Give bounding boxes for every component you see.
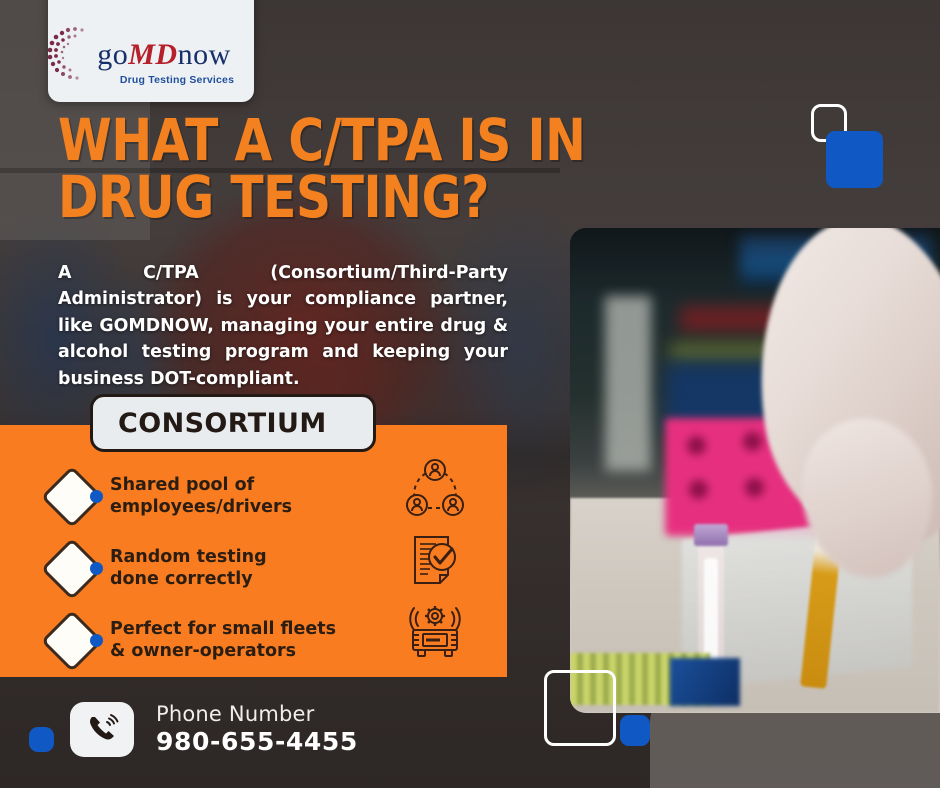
lab-photo-inner	[570, 228, 940, 713]
logo-text-go: go	[97, 40, 128, 70]
contact-block[interactable]: Phone Number 980-655-4455	[70, 701, 358, 757]
feature-line-2: & owner-operators	[110, 641, 296, 661]
contact-text: Phone Number 980-655-4455	[156, 701, 358, 757]
diamond-bullet-icon	[44, 469, 104, 523]
feature-text: Perfect for small fleets & owner-operato…	[110, 618, 336, 663]
logo-wordmark: go MD now	[97, 40, 231, 70]
list-item: Perfect for small fleets & owner-operato…	[44, 604, 384, 676]
feature-line-1: Shared pool of	[110, 475, 254, 495]
page-title: WHAT A C/TPA IS IN DRUG TESTING?	[58, 112, 453, 226]
poster-canvas: go MD now Drug Testing Services WHAT A C…	[0, 0, 940, 788]
lab-photo	[570, 228, 940, 713]
diamond-bullet-icon	[44, 541, 104, 595]
feature-line-2: employees/drivers	[110, 497, 292, 517]
decor-square-blue-bottom	[620, 715, 650, 746]
brand-logo[interactable]: go MD now Drug Testing Services	[48, 0, 254, 102]
phone-ringing-icon	[70, 702, 134, 757]
logo-text-md: MD	[128, 40, 177, 70]
feature-list: Shared pool of employees/drivers Random …	[44, 460, 384, 676]
consortium-badge-label: CONSORTIUM	[118, 408, 327, 439]
feature-text: Shared pool of employees/drivers	[110, 474, 292, 519]
feature-line-1: Perfect for small fleets	[110, 619, 336, 639]
swirl-dots-icon	[41, 24, 99, 82]
decor-square-blue-top-right	[826, 131, 883, 188]
logo-tagline: Drug Testing Services	[120, 74, 234, 86]
body-paragraph: A C/TPA (Consortium/Third-Party Administ…	[58, 260, 508, 392]
people-network-icon	[398, 452, 472, 524]
document-check-icon	[398, 524, 472, 596]
feature-line-1: Random testing	[110, 547, 267, 567]
feature-icon-column	[398, 452, 472, 668]
headline-line-1: WHAT A C/TPA IS IN	[58, 112, 453, 169]
diamond-bullet-icon	[44, 613, 104, 667]
headline-line-2: DRUG TESTING?	[58, 169, 453, 226]
truck-gear-icon	[398, 596, 472, 668]
consortium-badge: CONSORTIUM	[90, 394, 376, 452]
feature-line-2: done correctly	[110, 569, 253, 589]
list-item: Shared pool of employees/drivers	[44, 460, 384, 532]
logo-text-now: now	[178, 40, 231, 70]
decor-square-outline-bottom	[544, 670, 616, 746]
phone-number[interactable]: 980-655-4455	[156, 727, 358, 757]
phone-label: Phone Number	[156, 702, 315, 726]
list-item: Random testing done correctly	[44, 532, 384, 604]
decor-square-blue-bottom-left	[29, 727, 54, 752]
feature-text: Random testing done correctly	[110, 546, 267, 591]
